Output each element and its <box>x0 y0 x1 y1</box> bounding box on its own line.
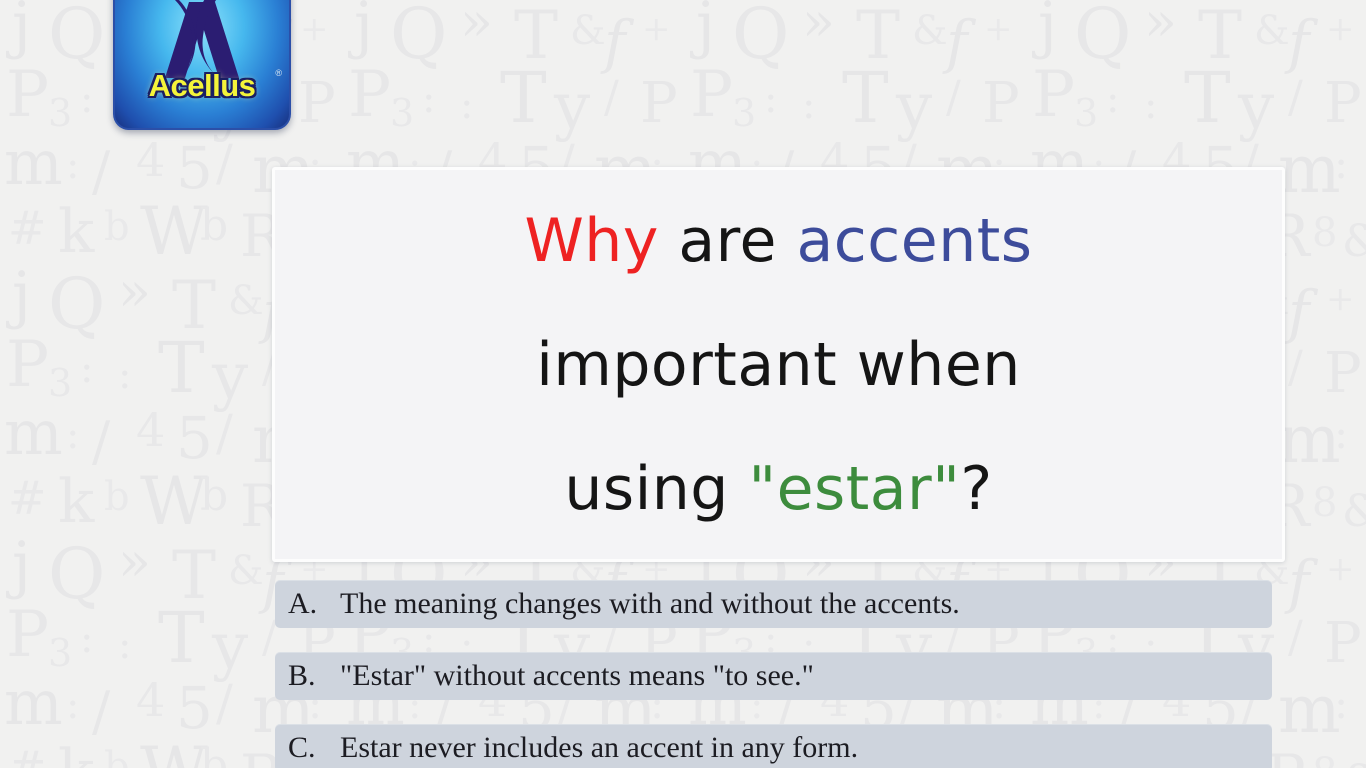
answer-letter-c: C. <box>288 731 340 765</box>
acellus-logo[interactable]: Acellus ® <box>113 0 291 130</box>
question-word-are: are <box>659 206 797 276</box>
question-mark: ? <box>960 454 992 524</box>
answer-options-list: A. The meaning changes with and without … <box>275 580 1272 768</box>
question-phrase-important-when: important when <box>536 330 1021 400</box>
answer-text-c: Estar never includes an accent in any fo… <box>340 731 858 765</box>
answer-option-c[interactable]: C. Estar never includes an accent in any… <box>275 724 1272 768</box>
acellus-trademark: ® <box>275 68 282 78</box>
question-line-2: important when <box>536 303 1021 427</box>
answer-letter-b: B. <box>288 659 340 693</box>
answer-text-a: The meaning changes with and without the… <box>340 587 960 621</box>
acellus-wordmark: Acellus <box>115 68 289 104</box>
answer-letter-a: A. <box>288 587 340 621</box>
question-word-estar: "estar" <box>748 454 960 524</box>
question-card: Why are accents important when using "es… <box>272 167 1285 562</box>
question-line-3: using "estar"? <box>564 427 992 551</box>
answer-option-a[interactable]: A. The meaning changes with and without … <box>275 580 1272 628</box>
answer-text-b: "Estar" without accents means "to see." <box>340 659 814 693</box>
question-line-1: Why are accents <box>524 179 1032 303</box>
question-word-accents: accents <box>797 206 1033 276</box>
question-word-why: Why <box>524 206 658 276</box>
acellus-mark-icon <box>115 0 289 78</box>
answer-option-b[interactable]: B. "Estar" without accents means "to see… <box>275 652 1272 700</box>
question-word-using: using <box>564 454 748 524</box>
